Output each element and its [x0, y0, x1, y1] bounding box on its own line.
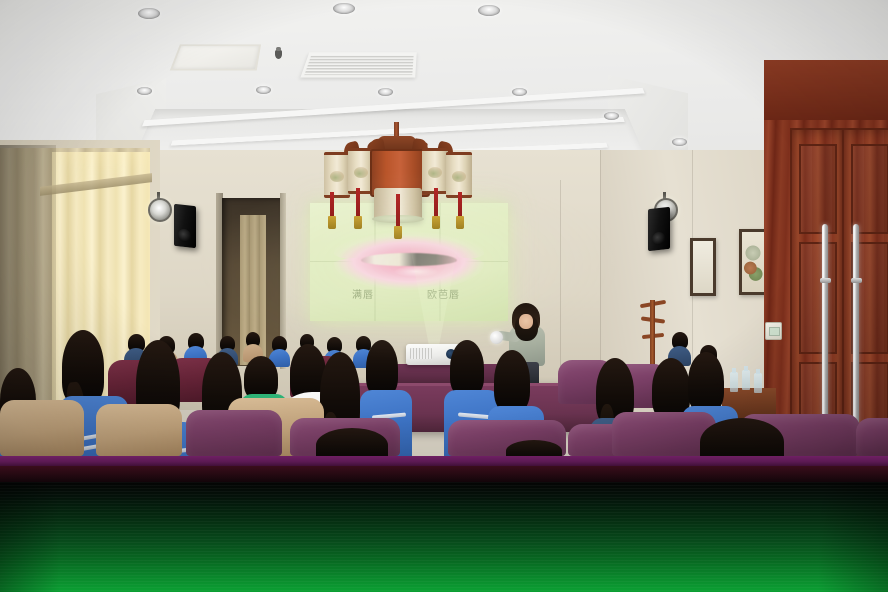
- chandelier-tassel: [396, 194, 400, 228]
- hair: [366, 340, 398, 396]
- presenter-face: [519, 314, 533, 329]
- screen-label-right: 欧芭唇: [427, 286, 460, 301]
- glitch-green-gradient: [0, 482, 888, 592]
- corrupted-image-band: [0, 456, 888, 592]
- door-panel: [799, 242, 837, 354]
- ceiling-downlight: [478, 5, 500, 16]
- ceiling-downlight: [138, 8, 160, 19]
- wall-speaker: [174, 204, 196, 248]
- framed-picture: [690, 238, 716, 296]
- water-bottle: [754, 373, 762, 393]
- chair[interactable]: [96, 404, 182, 456]
- hair: [450, 340, 484, 396]
- hair: [688, 352, 724, 412]
- ceiling-downlight: [672, 138, 687, 146]
- chandelier-shade: [324, 152, 350, 198]
- screenshot-canvas: 满唇 欧芭唇: [0, 0, 888, 592]
- chandelier-tassel: [330, 192, 334, 218]
- ceiling-access-panel: [170, 44, 261, 70]
- lip-highlight: [394, 266, 438, 277]
- ceiling-air-vent: [300, 52, 416, 77]
- handheld-mirror: [490, 331, 503, 344]
- door-handle-mount: [820, 278, 831, 283]
- door-leaf-left[interactable]: [790, 128, 844, 456]
- ceiling-downlight: [137, 87, 152, 95]
- mouth-opening: [361, 253, 457, 266]
- chair[interactable]: [0, 400, 84, 456]
- chair[interactable]: [186, 410, 282, 456]
- ceiling-downlight: [604, 112, 619, 120]
- glitch-purple-band: [0, 456, 888, 466]
- chair[interactable]: [856, 418, 888, 456]
- chandelier-tassel: [434, 188, 438, 218]
- hair: [506, 440, 562, 456]
- light-switch-panel[interactable]: [765, 322, 782, 340]
- door-header-trim: [764, 60, 888, 120]
- ceiling-sprinkler-icon: [275, 50, 282, 59]
- door-leaf-right[interactable]: [842, 128, 888, 456]
- screen-label-left: 满唇: [352, 286, 374, 301]
- water-bottle: [742, 370, 750, 390]
- wall-speaker: [648, 207, 670, 251]
- framed-picture: [739, 229, 767, 295]
- ceiling-downlight: [378, 88, 393, 96]
- ceiling-downlight: [333, 3, 355, 14]
- chandelier-tassel: [356, 188, 360, 218]
- projector-vent: [410, 348, 432, 359]
- hair: [316, 428, 388, 456]
- hair: [494, 350, 530, 412]
- door-panel: [851, 144, 888, 234]
- door-handle-mount: [851, 278, 862, 283]
- lips-image: [334, 230, 484, 290]
- chandelier-tassel: [458, 192, 462, 218]
- wall-spotlight: [148, 198, 172, 222]
- glitch-maroon-band: [0, 466, 888, 482]
- ceiling-downlight: [512, 88, 527, 96]
- conference-room-photo: 满唇 欧芭唇: [0, 0, 888, 456]
- water-bottle: [730, 372, 738, 392]
- door-panel: [799, 144, 837, 234]
- chandelier: [322, 122, 474, 230]
- ceiling-downlight: [256, 86, 271, 94]
